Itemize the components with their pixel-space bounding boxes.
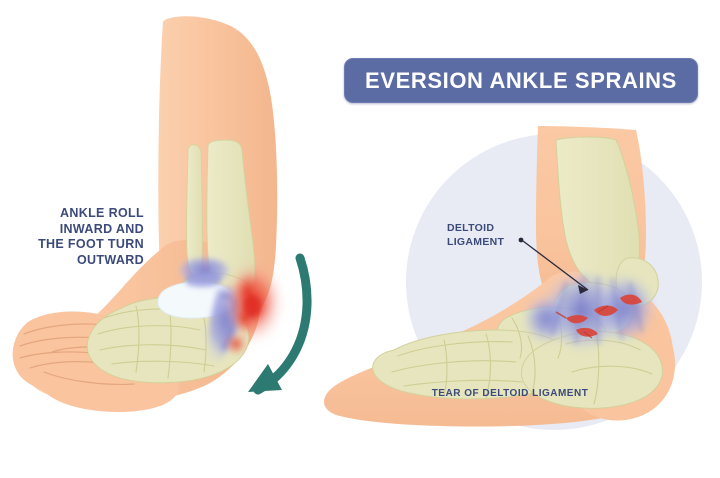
deltoid-ligament-callout: DELTOID LIGAMENT [447, 222, 537, 249]
caption-line-3: THE FOOT TURN [12, 237, 144, 253]
right-panel-caption: TEAR OF DELTOID LIGAMENT [380, 388, 640, 399]
inflammation-glow [223, 260, 283, 356]
callout-line-1: DELTOID [447, 222, 537, 236]
caption-line-4: OUTWARD [12, 253, 144, 269]
title-banner: EVERSION ANKLE SPRAINS [344, 58, 698, 103]
title-banner-text: EVERSION ANKLE SPRAINS [365, 68, 677, 94]
callout-line-2: LIGAMENT [447, 236, 537, 250]
left-panel-caption: ANKLE ROLL INWARD AND THE FOOT TURN OUTW… [12, 206, 144, 268]
fibula-bone [187, 145, 203, 277]
right-foot-illustration [324, 126, 702, 430]
caption-line-2: INWARD AND [12, 222, 144, 238]
caption-line-1: ANKLE ROLL [12, 206, 144, 222]
illustration-canvas: EVERSION ANKLE SPRAINS ANKLE ROLL INWARD… [0, 0, 720, 478]
